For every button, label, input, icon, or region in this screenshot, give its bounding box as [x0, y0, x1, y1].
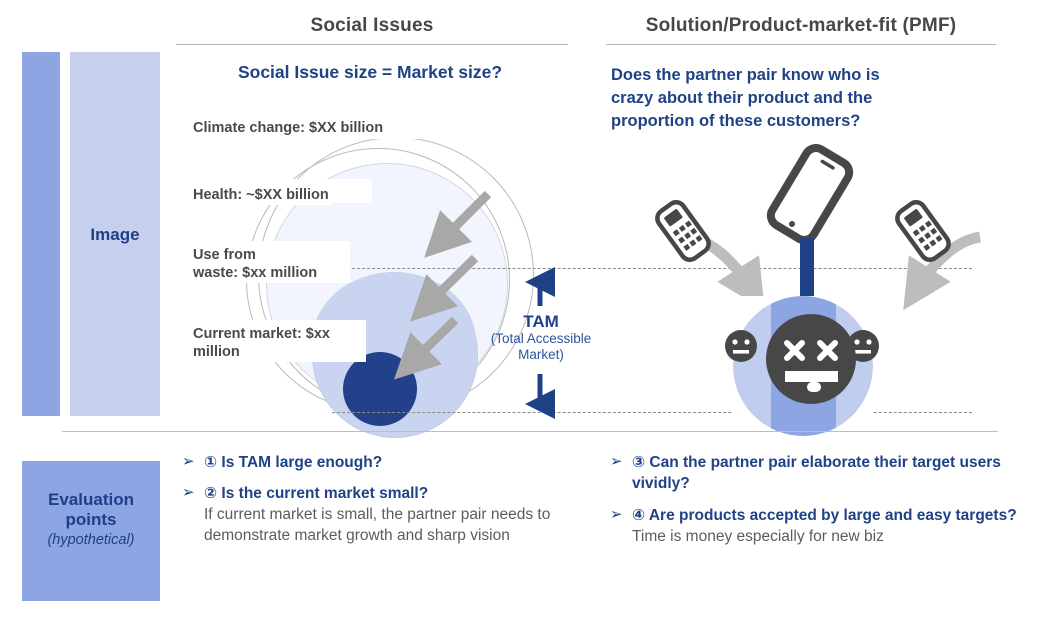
- eval-bullet-right-2-body: Time is money especially for new biz: [632, 526, 1017, 547]
- column-header-pmf-label: Solution/Product-market-fit (PMF): [646, 15, 957, 36]
- circle-label-waste-line2: waste: $xx million: [193, 265, 317, 281]
- column-header-pmf-rule: [606, 44, 996, 45]
- circle-label-current-line1: Current market: $xx: [193, 326, 330, 342]
- rail-label-evaluation-line2: points: [66, 510, 117, 529]
- eval-bullet-left-1-content: ① Is TAM large enough?: [204, 452, 382, 473]
- eval-bullet-right-1-head: ③ Can the partner pair elaborate their t…: [632, 454, 1001, 492]
- left-panel-lead: Social Issue size = Market size?: [190, 62, 550, 83]
- right-panel-lead-line2: crazy about their product and the: [611, 89, 872, 107]
- eval-bullet-left-2-content: ② Is the current market small? If curren…: [204, 483, 602, 546]
- right-panel-lead: Does the partner pair know who is crazy …: [611, 64, 981, 133]
- rail-accent-bar-image: [22, 52, 60, 416]
- rail-label-evaluation-line1: Evaluation: [48, 490, 134, 509]
- eval-bullet-right-2-content: ④ Are products accepted by large and eas…: [632, 505, 1017, 547]
- circle-label-current-line2: million: [193, 344, 240, 360]
- eval-bullet-left-1: ➢ ① Is TAM large enough?: [182, 452, 582, 473]
- eval-bullet-left-2: ➢ ② Is the current market small? If curr…: [182, 483, 602, 546]
- right-panel-lead-line1: Does the partner pair know who is: [611, 66, 880, 84]
- eval-bullet-right-2: ➢ ④ Are products accepted by large and e…: [610, 505, 1030, 547]
- eval-bullet-left-2-head: ② Is the current market small?: [204, 485, 428, 502]
- bullet-arrow-icon: ➢: [610, 452, 632, 472]
- feature-phone-icon-left: [648, 198, 718, 264]
- column-header-social-issues-label: Social Issues: [310, 15, 433, 36]
- bullet-arrow-icon: ➢: [182, 483, 204, 503]
- circle-inward-arrows: [380, 180, 580, 440]
- bullet-arrow-icon: ➢: [610, 505, 632, 525]
- eval-bullet-right-2-head: ④ Are products accepted by large and eas…: [632, 507, 1017, 524]
- rail-label-evaluation: Evaluation points (hypothetical): [22, 490, 160, 550]
- rail-label-evaluation-sub: (hypothetical): [22, 530, 160, 550]
- column-header-social-issues-rule: [176, 44, 568, 45]
- circle-label-climate-text: Climate change: $XX billion: [193, 120, 383, 136]
- circle-label-health: Health: ~$XX billion: [190, 185, 332, 205]
- eval-bullet-left-2-body: If current market is small, the partner …: [204, 504, 602, 546]
- column-header-pmf: Solution/Product-market-fit (PMF): [606, 15, 996, 37]
- rail-label-image: Image: [70, 225, 160, 245]
- eval-bullet-right-1-content: ③ Can the partner pair elaborate their t…: [632, 452, 1030, 494]
- eval-bullet-left-1-head: ① Is TAM large enough?: [204, 454, 382, 471]
- neutral-face-icon-left: [723, 328, 759, 364]
- circle-label-health-text: Health: ~$XX billion: [193, 187, 329, 203]
- bullet-arrow-icon: ➢: [182, 452, 204, 472]
- circle-label-waste-line1: Use from: [193, 247, 256, 263]
- dizzy-face-icon: [763, 311, 859, 407]
- eval-bullet-right-1: ➢ ③ Can the partner pair elaborate their…: [610, 452, 1030, 494]
- right-panel-lead-line3: proportion of these customers?: [611, 112, 860, 130]
- column-header-social-issues: Social Issues: [176, 15, 568, 37]
- smartphone-icon: [762, 142, 858, 246]
- feature-phone-icon-right: [888, 198, 958, 264]
- circle-label-climate: Climate change: $XX billion: [190, 118, 386, 138]
- circle-label-waste: Use from waste: $xx million: [190, 245, 320, 283]
- circle-label-current: Current market: $xx million: [190, 324, 333, 362]
- left-panel-lead-text: Social Issue size = Market size?: [238, 62, 502, 82]
- rail-label-image-text: Image: [90, 225, 139, 244]
